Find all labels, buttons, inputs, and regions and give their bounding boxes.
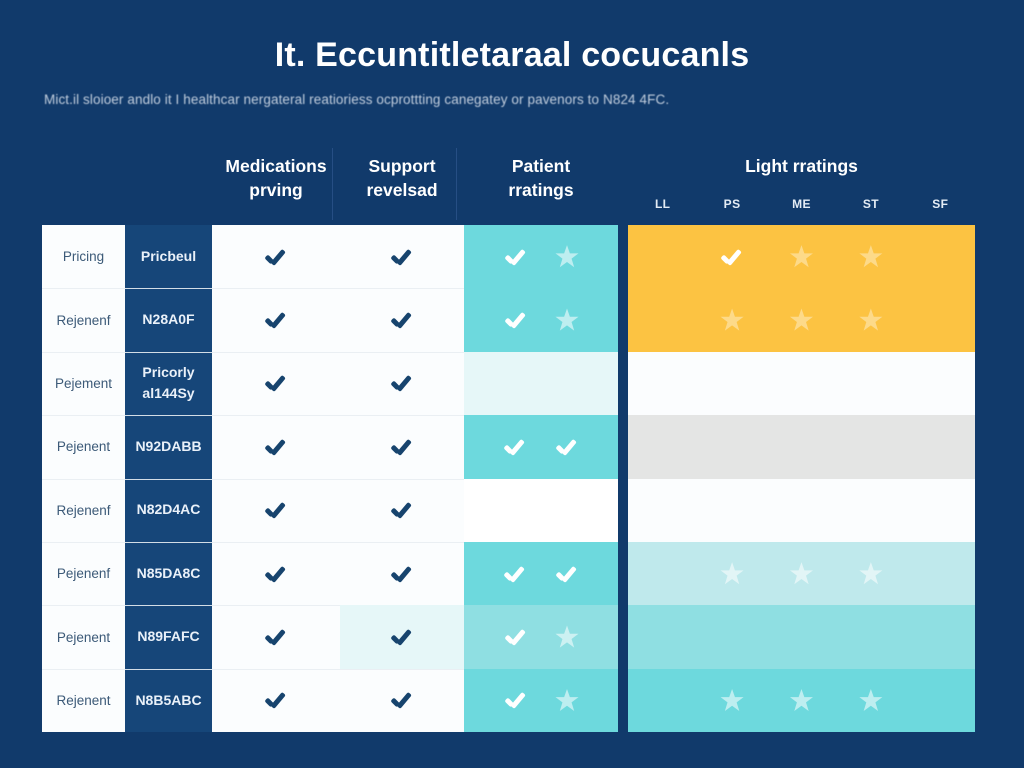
row-code: N28A0F — [125, 288, 212, 351]
check-icon — [389, 561, 415, 587]
header-divider — [332, 148, 333, 220]
cell-light-ratings[interactable] — [628, 225, 975, 288]
comparison-table-page: It. Eccuntitletaraal cocucanls Mict.il s… — [0, 0, 1024, 768]
row-code: N85DA8C — [125, 542, 212, 605]
row-code-line: N92DABB — [135, 436, 201, 458]
cell-support[interactable] — [340, 542, 464, 605]
check-icon — [719, 244, 745, 270]
cell-light-ratings[interactable] — [628, 669, 975, 732]
star-icon — [789, 688, 813, 712]
row-label: Pejenent — [42, 415, 125, 478]
check-icon — [389, 624, 415, 650]
row-code-line: N85DA8C — [137, 563, 201, 585]
star-icon — [789, 308, 813, 332]
column-header-line1: Patient — [464, 155, 618, 179]
check-icon — [503, 624, 529, 650]
row-code-line: N8B5ABC — [135, 690, 201, 712]
check-icon — [502, 434, 528, 460]
column-header-line1: Support — [340, 155, 464, 179]
light-rating-slot-me[interactable] — [767, 562, 836, 586]
check-icon — [263, 434, 289, 460]
cell-support[interactable] — [340, 225, 464, 288]
row-code: N82D4AC — [125, 479, 212, 542]
cell-medications[interactable] — [212, 479, 340, 542]
check-icon — [554, 434, 580, 460]
star-icon — [720, 562, 744, 586]
check-icon — [502, 561, 528, 587]
cell-patient[interactable] — [464, 352, 618, 415]
check-icon — [263, 307, 289, 333]
light-rating-slot-st[interactable] — [836, 562, 905, 586]
star-icon — [789, 562, 813, 586]
row-code-line: Pricbeul — [141, 246, 196, 268]
sub-header-me[interactable]: ME — [767, 197, 836, 211]
star-icon — [859, 562, 883, 586]
cell-patient[interactable] — [464, 415, 618, 478]
cell-medications[interactable] — [212, 225, 340, 288]
cell-light-ratings[interactable] — [628, 479, 975, 542]
cell-medications[interactable] — [212, 542, 340, 605]
star-icon — [555, 688, 579, 712]
cell-support[interactable] — [340, 415, 464, 478]
cell-patient[interactable] — [464, 542, 618, 605]
check-icon — [389, 370, 415, 396]
row-label: Pejenenf — [42, 542, 125, 605]
light-rating-slot-me[interactable] — [767, 308, 836, 332]
light-rating-slot-me[interactable] — [767, 688, 836, 712]
star-icon — [555, 245, 579, 269]
column-header-line2: prving — [212, 179, 340, 203]
check-icon — [389, 497, 415, 523]
row-code: N89FAFC — [125, 605, 212, 668]
light-rating-slot-ps[interactable] — [697, 308, 766, 332]
check-icon — [263, 497, 289, 523]
row-label: Pricing — [42, 225, 125, 288]
check-icon — [503, 687, 529, 713]
check-icon — [263, 624, 289, 650]
row-code-line: N82D4AC — [137, 499, 201, 521]
row-label: Pejement — [42, 352, 125, 415]
check-icon — [389, 434, 415, 460]
group-header-light-ratings[interactable]: Light rratings — [628, 156, 975, 177]
cell-medications[interactable] — [212, 288, 340, 351]
cell-support[interactable] — [340, 605, 464, 668]
cell-patient[interactable] — [464, 288, 618, 351]
page-title: It. Eccuntitletaraal cocucanls — [0, 36, 1024, 75]
cell-light-ratings[interactable] — [628, 352, 975, 415]
check-icon — [263, 687, 289, 713]
row-label: Pejenent — [42, 605, 125, 668]
cell-medications[interactable] — [212, 415, 340, 478]
check-icon — [503, 307, 529, 333]
cell-patient[interactable] — [464, 669, 618, 732]
cell-light-ratings[interactable] — [628, 288, 975, 351]
sub-header-ps[interactable]: PS — [697, 197, 766, 211]
cell-light-ratings[interactable] — [628, 605, 975, 668]
cell-patient[interactable] — [464, 605, 618, 668]
star-icon — [859, 245, 883, 269]
star-icon — [555, 308, 579, 332]
light-rating-slot-me[interactable] — [767, 245, 836, 269]
light-rating-slot-st[interactable] — [836, 245, 905, 269]
row-code: N8B5ABC — [125, 669, 212, 732]
cell-light-ratings[interactable] — [628, 542, 975, 605]
check-icon — [263, 370, 289, 396]
cell-patient[interactable] — [464, 225, 618, 288]
star-icon — [555, 625, 579, 649]
sub-header-st[interactable]: ST — [836, 197, 905, 211]
cell-support[interactable] — [340, 352, 464, 415]
star-icon — [720, 308, 744, 332]
cell-medications[interactable] — [212, 352, 340, 415]
row-label: Rejenent — [42, 669, 125, 732]
column-header-line1: Medications — [212, 155, 340, 179]
row-code: Pricorlyal144Sy — [125, 352, 212, 415]
row-code-line: N28A0F — [142, 309, 194, 331]
star-icon — [789, 245, 813, 269]
row-code-line: Pricorly — [142, 362, 194, 384]
column-header-patient[interactable]: Patientrratings — [464, 155, 618, 202]
star-icon — [720, 688, 744, 712]
check-icon — [389, 687, 415, 713]
cell-patient[interactable] — [464, 479, 618, 542]
header-divider — [456, 148, 457, 220]
light-rating-slot-ps[interactable] — [697, 562, 766, 586]
row-label: Rejenenf — [42, 479, 125, 542]
check-icon — [389, 244, 415, 270]
cell-medications[interactable] — [212, 669, 340, 732]
cell-support[interactable] — [340, 288, 464, 351]
page-subtitle: Mict.il sloioer andlo it I healthcar ner… — [44, 92, 984, 107]
check-icon — [554, 561, 580, 587]
row-code-line: al144Sy — [142, 383, 194, 405]
star-icon — [859, 308, 883, 332]
column-header-medications[interactable]: Medicationsprving — [212, 155, 340, 202]
light-rating-slot-ps[interactable] — [697, 688, 766, 712]
cell-support[interactable] — [340, 479, 464, 542]
light-rating-slot-ps[interactable] — [697, 244, 766, 270]
sub-header-sf[interactable]: SF — [906, 197, 975, 211]
light-rating-slot-st[interactable] — [836, 688, 905, 712]
column-header-line2: rratings — [464, 179, 618, 203]
cell-support[interactable] — [340, 669, 464, 732]
row-code-line: N89FAFC — [137, 626, 199, 648]
row-code: Pricbeul — [125, 225, 212, 288]
cell-medications[interactable] — [212, 605, 340, 668]
check-icon — [503, 244, 529, 270]
check-icon — [263, 244, 289, 270]
row-code: N92DABB — [125, 415, 212, 478]
column-header-support[interactable]: Supportrevelsad — [340, 155, 464, 202]
light-rating-slot-st[interactable] — [836, 308, 905, 332]
star-icon — [859, 688, 883, 712]
row-label: Rejenenf — [42, 288, 125, 351]
check-icon — [263, 561, 289, 587]
cell-light-ratings[interactable] — [628, 415, 975, 478]
check-icon — [389, 307, 415, 333]
sub-header-ll[interactable]: LL — [628, 197, 697, 211]
column-header-line2: revelsad — [340, 179, 464, 203]
